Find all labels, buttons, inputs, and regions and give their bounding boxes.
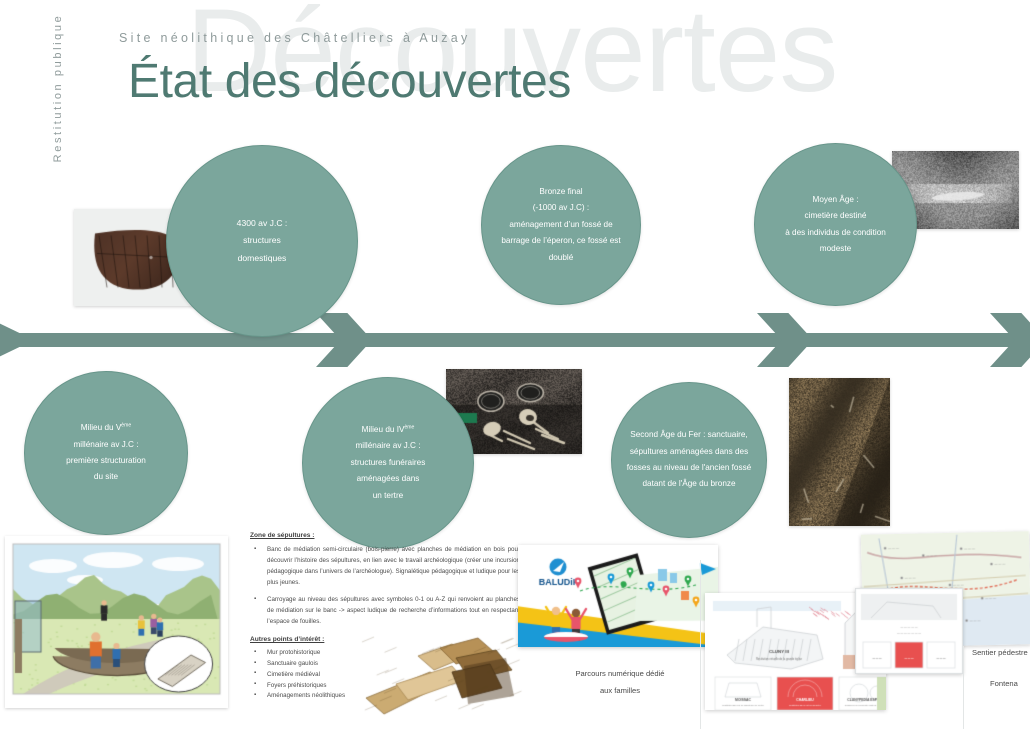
illustration-park-sketch	[5, 536, 228, 708]
slide-canvas: Découvertes Site néolithique des Châtell…	[0, 0, 1030, 729]
timeline-circle-4-text: Milieu du Vèmemillénaire av J.C :premièr…	[54, 420, 158, 486]
right-caption-sentier: Sentier pédestre	[972, 648, 1028, 657]
baludik-caption-line1: Parcours numérique dédié	[520, 666, 720, 683]
slide-kicker: Site néolithique des Châtelliers à Auzay	[119, 31, 471, 45]
timeline-circle-2: Bronze final(-1000 av J.C) :aménagement …	[481, 145, 641, 305]
notes-bullet: Banc de médiation semi-circulaire (bois-…	[250, 544, 520, 588]
notes-heading-1: Zone de sépultures :	[250, 532, 520, 539]
photo-wooden-panels	[356, 636, 524, 729]
right-caption-fontena: Fontena	[990, 679, 1018, 688]
baludik-caption-line2: aux familles	[520, 683, 720, 700]
sheet-edge-far-right	[963, 646, 964, 729]
timeline-axis	[0, 333, 1030, 347]
timeline-circle-4: Milieu du Vèmemillénaire av J.C :premièr…	[24, 371, 188, 535]
brochure-inner-page	[855, 588, 963, 674]
page-title: État des découvertes	[128, 54, 571, 109]
notes-list-1: Banc de médiation semi-circulaire (bois-…	[250, 544, 520, 627]
baludik-banner	[518, 545, 718, 647]
timeline-circle-1-text: 4300 av J.C :structuresdomestiques	[225, 215, 300, 267]
side-label-restitution: Restitution publique	[52, 8, 64, 168]
timeline-circle-1: 4300 av J.C :structuresdomestiques	[166, 145, 358, 337]
timeline-circle-5-text: Milieu du IVèmemillénaire av J.C :struct…	[339, 422, 438, 504]
timeline-circle-6: Second Âge du Fer : sanctuaire,sépulture…	[611, 382, 767, 538]
timeline-circle-3-text: Moyen Âge :cimetière destinéà des indivi…	[773, 192, 898, 258]
timeline-circle-5: Milieu du IVèmemillénaire av J.C :struct…	[302, 377, 474, 549]
baludik-caption: Parcours numérique dédié aux familles	[520, 666, 720, 699]
timeline-circle-2-text: Bronze final(-1000 av J.C) :aménagement …	[489, 184, 632, 266]
timeline-circle-6-text: Second Âge du Fer : sanctuaire,sépulture…	[615, 427, 763, 493]
photo-rock-layer	[789, 378, 890, 526]
sheet-edge-right	[700, 560, 701, 729]
timeline-arrow-start	[0, 313, 34, 367]
notes-bullet: Carroyage au niveau des sépultures avec …	[250, 594, 520, 627]
timeline-circle-3: Moyen Âge :cimetière destinéà des indivi…	[754, 143, 917, 306]
